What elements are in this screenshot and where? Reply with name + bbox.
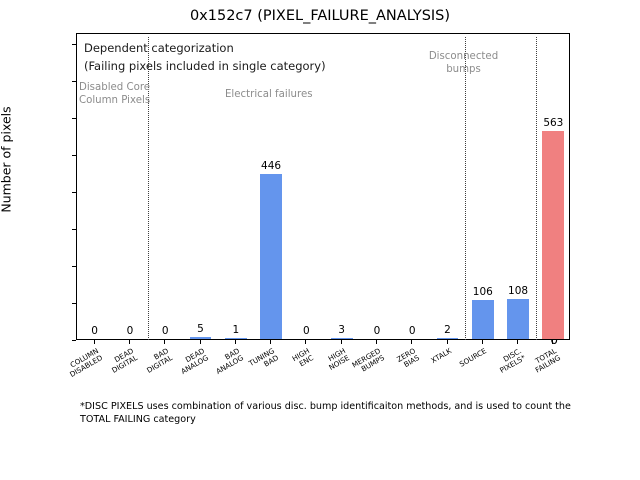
bar-value-label: 106 xyxy=(473,286,493,298)
annotation-dependent-categorization-line2: (Failing pixels included in single categ… xyxy=(84,59,326,74)
annotation-disabled-core-column-pixels: Disabled Core Column Pixels xyxy=(79,82,150,107)
x-tick-mark xyxy=(94,340,95,344)
y-tick-mark xyxy=(72,340,76,341)
annotation-electrical-failures: Electrical failures xyxy=(225,89,313,102)
x-tick-mark xyxy=(270,340,271,344)
bar-value-label: 0 xyxy=(409,325,416,337)
bar xyxy=(472,300,494,339)
bar xyxy=(260,174,282,339)
bar xyxy=(225,338,247,339)
bar-value-label: 0 xyxy=(303,325,310,337)
chart-figure: 0x152c7 (PIXEL_FAILURE_ANALYSIS) Number … xyxy=(0,0,640,480)
bar xyxy=(331,338,353,339)
x-tick-mark xyxy=(164,340,165,344)
bar-value-label: 0 xyxy=(91,325,98,337)
chart-title: 0x152c7 (PIXEL_FAILURE_ANALYSIS) xyxy=(0,8,640,24)
bar-value-label: 0 xyxy=(127,325,134,337)
bar-value-label: 563 xyxy=(543,117,563,129)
plot-area: 0005144603002106108563 Dependent categor… xyxy=(76,33,570,340)
category-divider xyxy=(536,37,537,340)
x-tick-mark xyxy=(235,340,236,344)
x-tick-mark xyxy=(200,340,201,344)
x-tick-mark xyxy=(129,340,130,344)
x-tick-mark xyxy=(447,340,448,344)
annotation-dependent-categorization-line1: Dependent categorization xyxy=(84,41,234,56)
bar-value-label: 1 xyxy=(232,324,239,336)
bar-value-label: 5 xyxy=(197,323,204,335)
x-tick-mark xyxy=(411,340,412,344)
bar-value-label: 0 xyxy=(374,325,381,337)
bar-value-label: 2 xyxy=(444,324,451,336)
x-tick-mark xyxy=(305,340,306,344)
bar xyxy=(437,338,459,339)
bar xyxy=(190,337,212,339)
x-tick-mark xyxy=(517,340,518,344)
category-divider xyxy=(465,37,466,340)
bar-value-label: 108 xyxy=(508,285,528,297)
annotation-disconnected-bumps: Disconnected bumps xyxy=(411,51,516,76)
footnote-text: *DISC PIXELS uses combination of various… xyxy=(80,401,580,426)
bar-value-label: 3 xyxy=(338,324,345,336)
bar-value-label: 446 xyxy=(261,160,281,172)
x-tick-mark xyxy=(341,340,342,344)
bar xyxy=(542,131,564,339)
bar-value-label: 0 xyxy=(162,325,169,337)
bar xyxy=(507,299,529,339)
y-axis-title: Number of pixels xyxy=(0,0,14,380)
x-tick-mark xyxy=(482,340,483,344)
x-tick-mark xyxy=(552,340,553,344)
x-tick-mark xyxy=(376,340,377,344)
